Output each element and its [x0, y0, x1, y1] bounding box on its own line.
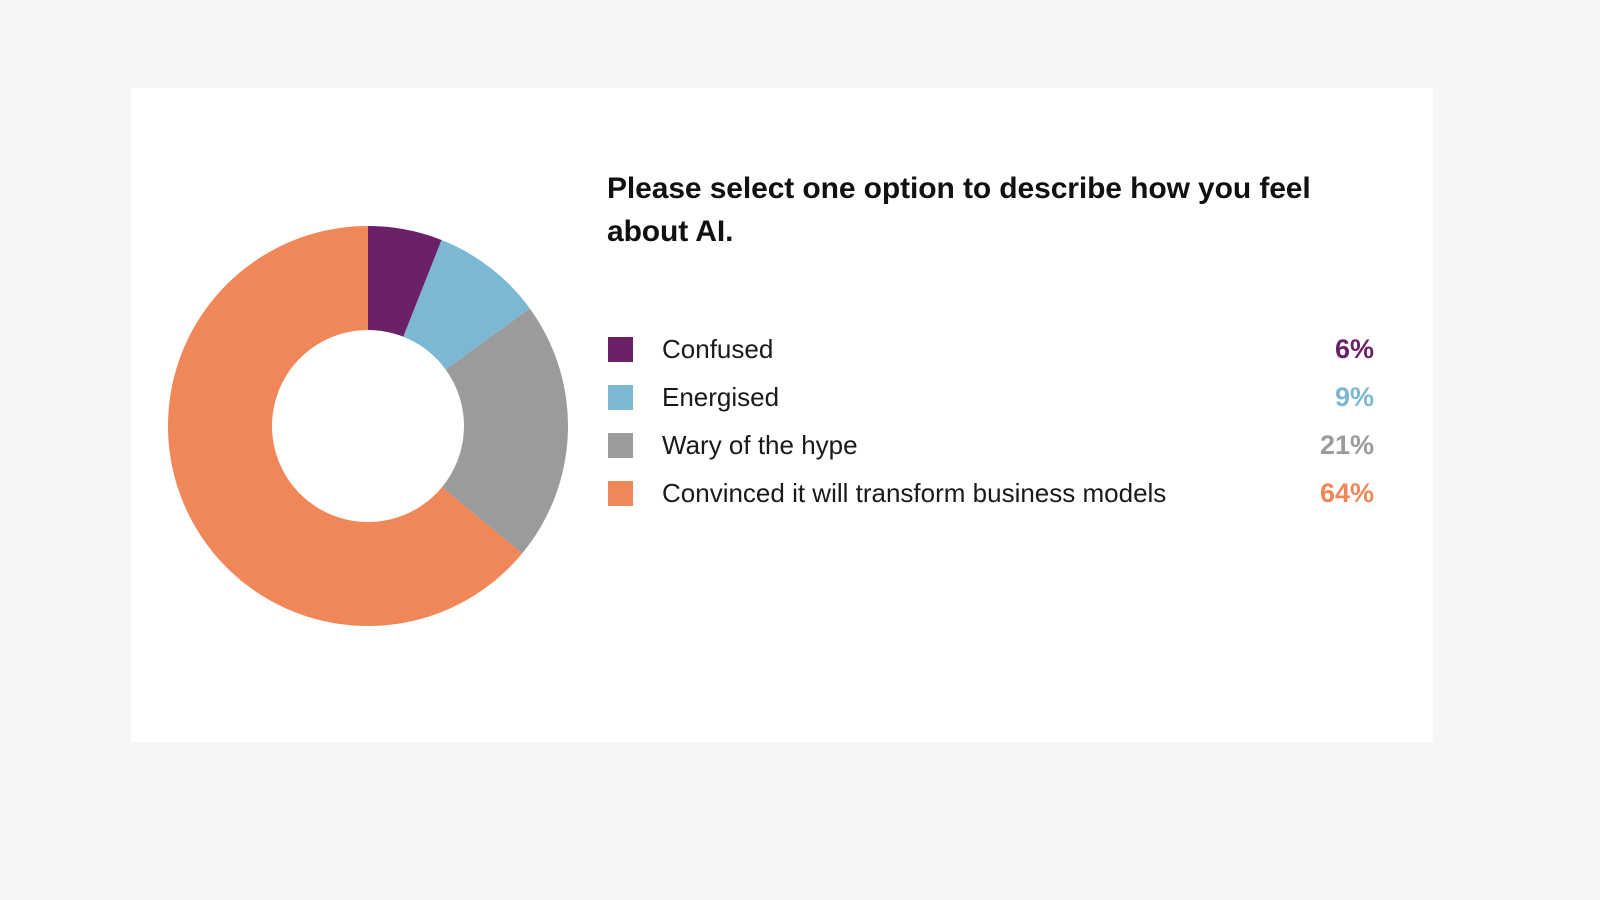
donut-slice-group: [168, 226, 568, 626]
legend-label: Wary of the hype: [662, 430, 858, 461]
legend-color-swatch: [608, 433, 633, 458]
donut-chart: [168, 226, 568, 626]
chart-title: Please select one option to describe how…: [607, 168, 1367, 253]
legend-row[interactable]: Energised9%: [605, 373, 1374, 421]
chart-info-panel: Please select one option to describe how…: [605, 168, 1380, 517]
legend-label: Convinced it will transform business mod…: [662, 478, 1166, 509]
legend-color-swatch: [608, 337, 633, 362]
legend-row[interactable]: Convinced it will transform business mod…: [605, 469, 1374, 517]
legend-value: 6%: [1335, 334, 1374, 365]
legend-row[interactable]: Confused6%: [605, 325, 1374, 373]
legend-value: 64%: [1320, 478, 1374, 509]
legend-label: Confused: [662, 334, 773, 365]
chart-card: Please select one option to describe how…: [131, 88, 1433, 742]
legend-label: Energised: [662, 382, 779, 413]
legend-color-swatch: [608, 385, 633, 410]
chart-legend: Confused6%Energised9%Wary of the hype21%…: [605, 325, 1374, 517]
legend-value: 21%: [1320, 430, 1374, 461]
donut-chart-svg: [168, 226, 568, 626]
legend-color-swatch: [608, 481, 633, 506]
legend-value: 9%: [1335, 382, 1374, 413]
legend-row[interactable]: Wary of the hype21%: [605, 421, 1374, 469]
